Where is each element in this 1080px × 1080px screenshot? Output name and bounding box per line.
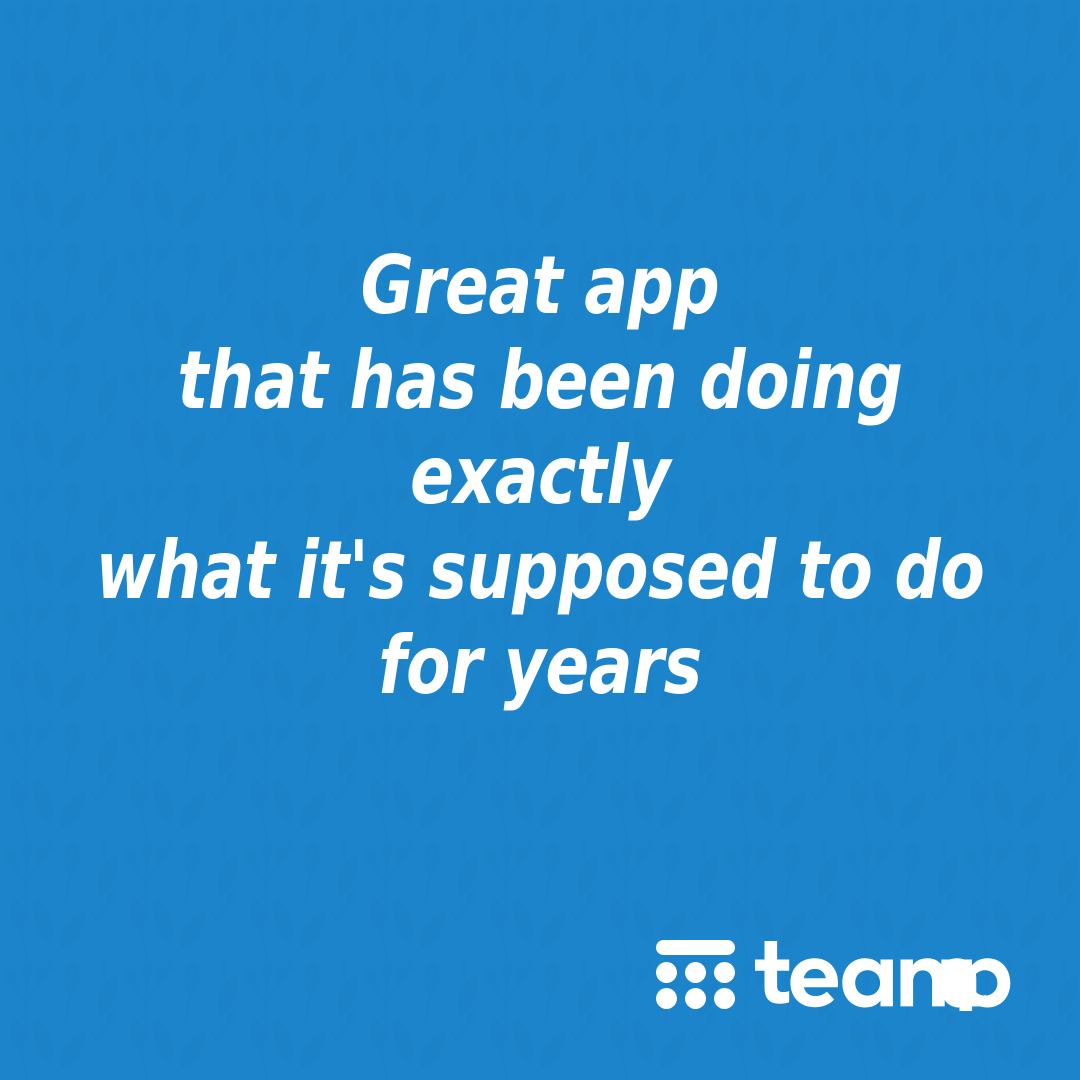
teamup-dots-grid-icon xyxy=(656,940,735,1009)
quote-text: Great app that has been doing exactly wh… xyxy=(0,238,1080,713)
quote-line-2: that has been doing xyxy=(54,333,1026,428)
quote-line-4: what it's supposed to do xyxy=(54,523,1026,618)
quote-line-1: Great app xyxy=(54,238,1026,333)
quote-line-3: exactly xyxy=(54,428,1026,523)
social-quote-card: Great app that has been doing exactly wh… xyxy=(0,0,1080,1080)
quote-line-5: for years xyxy=(54,618,1026,713)
teamup-logo: teamup xyxy=(656,934,1014,1014)
teamup-wordmark: teamup xyxy=(752,937,1014,1011)
